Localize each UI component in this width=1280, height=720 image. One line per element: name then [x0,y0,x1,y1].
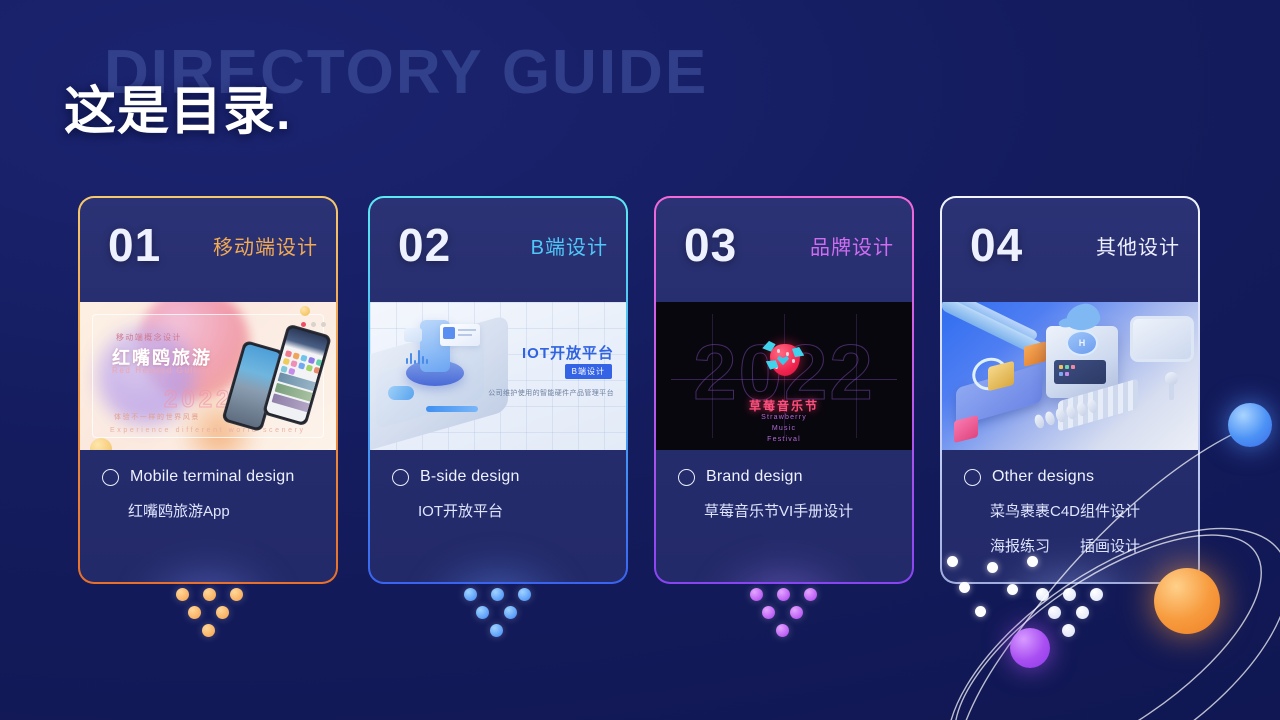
card-header: 01 移动端设计 [80,198,336,302]
card-thumbnail-iot-platform[interactable]: IOT开放平台 B端设计 公司维护使用的智能硬件产品管理平台 [370,302,626,450]
thumb-title-en: Red Headed Gull Tourism [112,366,240,375]
bullet-ring-icon [678,469,695,486]
directory-card-01[interactable]: 01 移动端设计 移动端概念设计 红嘴鸥旅游 Red Headed Gull T… [78,196,338,584]
card-footer-title-en: Mobile terminal design [130,468,294,486]
card-footer-title-en: Other designs [992,468,1094,486]
card-category-label: 其他设计 [1096,238,1180,258]
thumb-year: 2022 [164,386,233,414]
card-category-label: 品牌设计 [810,238,894,258]
card-footer: B-side design IOT开放平台 [370,450,626,582]
card-bottom-glow [133,556,283,582]
directory-card-list: 01 移动端设计 移动端概念设计 红嘴鸥旅游 Red Headed Gull T… [78,196,1204,584]
card-number: 01 [108,222,161,268]
bullet-ring-icon [102,469,119,486]
card-bottom-glow [995,556,1145,582]
card-number: 02 [398,222,451,268]
card-footer-subtitle-cn: 菜鸟裹裹C4D组件设计 [942,500,1198,521]
card-number: 03 [684,222,737,268]
orbit-dot-5 [1007,584,1018,595]
card-footer-subtitle-cn: 草莓音乐节VI手册设计 [656,500,912,521]
card-footer: Mobile terminal design 红嘴鸥旅游App [80,450,336,582]
decorative-dots-card-02 [462,594,532,650]
slide-canvas: DIRECTORY GUIDE 这是目录. 01 移动端设计 移动端概念设计 红… [0,0,1280,720]
directory-card-02[interactable]: 02 B端设计 IOT开放平台 B端设计 公司维护使用的智能硬件产品管理平台 [368,196,628,584]
card-footer-subtitle-cn: 红嘴鸥旅游App [80,500,336,521]
card-header: 04 其他设计 [942,198,1198,302]
card-number: 04 [970,222,1023,268]
decorative-dots-card-03 [748,594,818,650]
thumb-eyebrow: 移动端概念设计 [116,332,182,343]
card-footer: Other designs 菜鸟裹裹C4D组件设计 海报练习插画设计 [942,450,1198,582]
orbit-dot-6 [975,606,986,617]
thumb-description: 公司维护使用的智能硬件产品管理平台 [488,388,614,398]
directory-card-04[interactable]: 04 其他设计 H [940,196,1200,584]
card-footer-extra-row: 海报练习插画设计 [942,535,1198,556]
card-thumbnail-strawberry-festival[interactable]: 2022 草莓 [656,302,912,450]
card-footer: Brand design 草莓音乐节VI手册设计 [656,450,912,582]
card-footer-extra-2: 插画设计 [1080,538,1140,555]
card-category-label: 移动端设计 [213,238,318,258]
card-footer-extra-1: 海报练习 [990,538,1050,555]
card-footer-title-en: B-side design [420,468,520,486]
bullet-ring-icon [392,469,409,486]
card-thumbnail-travel-app[interactable]: 移动端概念设计 红嘴鸥旅游 Red Headed Gull Tourism 20… [80,302,336,450]
signboard [1130,316,1194,362]
page-header: DIRECTORY GUIDE 这是目录. [64,42,764,152]
decorative-dots-card-01 [174,594,244,650]
card-header: 02 B端设计 [370,198,626,302]
planet-blue [1228,403,1272,447]
thumb-badge: B端设计 [565,364,612,379]
card-bottom-glow [423,556,573,582]
decorative-dots-card-04 [1034,594,1104,650]
card-bottom-glow [709,556,859,582]
thumb-title-cn: IOT开放平台 [522,342,614,363]
badge-letter: H [1066,330,1098,356]
card-category-label: B端设计 [531,238,608,258]
thumb-title-en: Strawberry Music Festival [761,412,807,446]
page-title: 这是目录. [64,86,291,138]
card-footer-subtitle-cn: IOT开放平台 [370,500,626,521]
thumb-tagline-cn: 体验不一样的世界风景 [114,412,200,422]
card-header: 03 品牌设计 [656,198,912,302]
directory-card-03[interactable]: 03 品牌设计 2022 [654,196,914,584]
card-thumbnail-c4d-scene[interactable]: H [942,302,1198,450]
thumb-tagline-en: Experience different world scenery [110,427,306,434]
strawberry-icon [761,335,807,381]
card-footer-title-en: Brand design [706,468,803,486]
bullet-ring-icon [964,469,981,486]
